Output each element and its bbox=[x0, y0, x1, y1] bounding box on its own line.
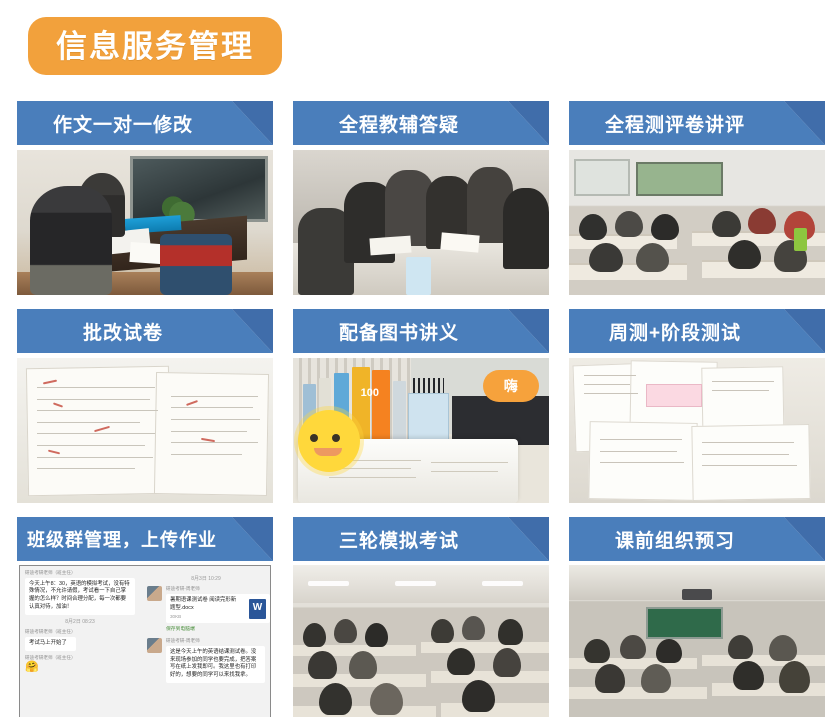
card-title: 周测+阶段测试 bbox=[569, 309, 781, 353]
chat-left-column: 研途考研老师（班主任） 今天上午8：30，英语的模拟考试，没有特殊情况，不允许请… bbox=[20, 566, 140, 673]
chat-file-size: 30KB bbox=[170, 614, 240, 621]
chat-right-column: 8月3日 10:29 研途考研-周老师 暑期语课测试卷 阅读完形新题型.docx… bbox=[142, 572, 270, 687]
chat-bubble-text: 这是今天上午的英语结课测试卷。没来现场参加的同学也要完成，把答案写在纸上发我即可… bbox=[166, 646, 265, 683]
service-card[interactable]: 配备图书讲义 100 bbox=[293, 309, 549, 505]
service-card[interactable]: 课前组织预习 bbox=[569, 517, 825, 717]
avatar bbox=[147, 586, 162, 601]
chat-timestamp: 8月3日 10:29 bbox=[142, 576, 270, 583]
photo-weekly-and-stage-tests bbox=[569, 358, 825, 503]
photo-test-paper-review-class bbox=[569, 150, 825, 295]
service-card-grid: 作文一对一修改 全程教辅答疑 bbox=[17, 101, 817, 717]
service-card[interactable]: 全程教辅答疑 bbox=[293, 101, 549, 297]
word-document-icon: W bbox=[249, 599, 266, 619]
chat-bubble-text: 今天上午8：30，英语的模拟考试，没有特殊情况，不允许请假，考试看一下自己掌握的… bbox=[25, 578, 135, 615]
photo-pre-class-preview-session bbox=[569, 565, 825, 717]
sun-sticker bbox=[298, 410, 360, 472]
section-badge-label: 信息服务管理 bbox=[56, 31, 254, 62]
service-card[interactable]: 三轮模拟考试 bbox=[293, 517, 549, 717]
chat-bubble-text: 考试马上开始了 bbox=[25, 637, 76, 651]
chat-message-file: 研途考研-周老师 暑期语课测试卷 阅读完形新题型.docx 30KB W bbox=[142, 586, 270, 623]
avatar bbox=[147, 638, 162, 653]
card-ribbon-header: 周测+阶段测试 bbox=[569, 309, 825, 353]
card-title: 课前组织预习 bbox=[569, 517, 781, 561]
card-title: 全程教辅答疑 bbox=[293, 101, 505, 145]
chat-message-reply: 研途考研-周老师 这是今天上午的英语结课测试卷。没来现场参加的同学也要完成，把答… bbox=[142, 638, 270, 683]
service-card[interactable]: 作文一对一修改 bbox=[17, 101, 273, 297]
card-ribbon-header: 全程教辅答疑 bbox=[293, 101, 549, 145]
card-ribbon-header: 全程测评卷讲评 bbox=[569, 101, 825, 145]
photo-marking-exam-papers bbox=[17, 358, 273, 503]
chat-sender-name: 研途考研老师（班主任） bbox=[25, 570, 135, 577]
photo-class-group-chat-screenshot: 8月3日 10:29 研途考研-周老师 暑期语课测试卷 阅读完形新题型.docx… bbox=[19, 565, 271, 717]
chat-file-name: 暑期语课测试卷 阅读完形新题型.docx bbox=[170, 597, 240, 613]
chat-timestamp: 8月2日 08:23 bbox=[20, 619, 140, 626]
photo-tutoring-question-answering bbox=[293, 150, 549, 295]
chat-sender-name: 研途考研老师（班主任） bbox=[25, 629, 76, 636]
photo-books-and-handouts: 100 嗨 bbox=[293, 358, 549, 503]
card-ribbon-header: 课前组织预习 bbox=[569, 517, 825, 561]
emoji-sticker: 🤗 bbox=[25, 662, 76, 673]
info-service-management-page: 信息服务管理 作文一对一修改 bbox=[0, 0, 831, 717]
card-ribbon-header: 三轮模拟考试 bbox=[293, 517, 549, 561]
chat-message: 研途考研老师（班主任） 今天上午8：30，英语的模拟考试，没有特殊情况，不允许请… bbox=[20, 566, 140, 615]
card-title: 三轮模拟考试 bbox=[293, 517, 505, 561]
card-title: 配备图书讲义 bbox=[293, 309, 505, 353]
card-title: 班级群管理，上传作业 bbox=[17, 517, 265, 561]
book-cover-number: 100 bbox=[354, 384, 385, 401]
card-ribbon-header: 配备图书讲义 bbox=[293, 309, 549, 353]
service-card[interactable]: 班级群管理，上传作业 8月3日 10:29 研途考研-周老师 暑期语课测试卷 阅… bbox=[17, 517, 273, 717]
chat-message-emoji: 研途考研老师（班主任） 🤗 bbox=[20, 655, 140, 674]
photo-one-on-one-essay-correction bbox=[17, 150, 273, 295]
chat-sender-name: 研途考研-周老师 bbox=[166, 638, 265, 645]
card-ribbon-header: 班级群管理，上传作业 bbox=[17, 517, 273, 561]
service-card[interactable]: 批改试卷 bbox=[17, 309, 273, 505]
card-ribbon-header: 批改试卷 bbox=[17, 309, 273, 353]
section-badge: 信息服务管理 bbox=[28, 17, 282, 75]
card-title: 批改试卷 bbox=[17, 309, 229, 353]
chat-message: 研途考研老师（班主任） 考试马上开始了 bbox=[20, 629, 140, 650]
speech-bubble-sticker: 嗨 bbox=[483, 370, 539, 402]
chat-save-to-computer-link[interactable]: 保存到电脑端 bbox=[166, 627, 270, 634]
service-card[interactable]: 全程测评卷讲评 bbox=[569, 101, 825, 297]
card-title: 作文一对一修改 bbox=[17, 101, 229, 145]
chat-sender-name: 研途考研-周老师 bbox=[166, 586, 270, 593]
service-card[interactable]: 周测+阶段测试 bbox=[569, 309, 825, 505]
card-title: 全程测评卷讲评 bbox=[569, 101, 781, 145]
chat-file-attachment[interactable]: 暑期语课测试卷 阅读完形新题型.docx 30KB W bbox=[166, 594, 270, 623]
card-ribbon-header: 作文一对一修改 bbox=[17, 101, 273, 145]
photo-three-rounds-mock-exams bbox=[293, 565, 549, 717]
